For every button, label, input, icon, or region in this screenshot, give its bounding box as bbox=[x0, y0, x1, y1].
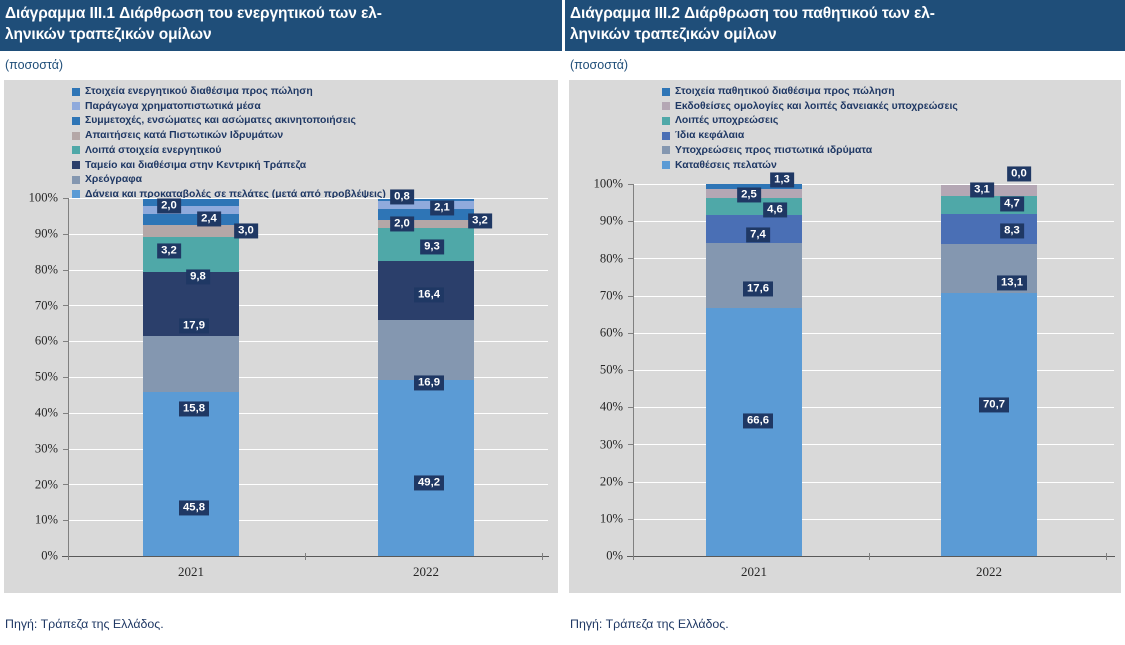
y-axis-tick-label: 100% bbox=[569, 177, 623, 192]
legend-assets: Στοιχεία ενεργητικού διαθέσιμα προς πώλη… bbox=[4, 84, 558, 202]
legend-item[interactable]: Χρεόγραφα bbox=[4, 172, 558, 187]
x-axis-category-label: 2022 bbox=[413, 564, 439, 580]
gridline bbox=[69, 520, 548, 521]
x-axis-tick-mark bbox=[869, 553, 870, 560]
legend-item[interactable]: Παράγωγα χρηματοπιστωτικά μέσα bbox=[4, 99, 558, 114]
chart-title-line-2: ληνικών τραπεζικών ομίλων bbox=[5, 25, 555, 46]
x-axis-line bbox=[627, 556, 1115, 557]
bar-segment[interactable] bbox=[378, 380, 474, 556]
bar-data-label: 4,6 bbox=[763, 203, 787, 218]
legend-swatch-icon bbox=[72, 132, 80, 140]
bar-data-label: 3,0 bbox=[234, 224, 258, 239]
bar-segment[interactable] bbox=[706, 243, 802, 308]
chart-title-assets: Διάγραμμα III.1 Διάρθρωση του ενεργητικο… bbox=[0, 0, 562, 51]
bar-data-label: 3,2 bbox=[468, 214, 492, 229]
bar-data-label: 49,2 bbox=[414, 476, 444, 491]
y-axis-tick-mark bbox=[628, 370, 634, 371]
bar-data-label: 0,8 bbox=[390, 190, 414, 205]
chart-title-line-1: Διάγραμμα III.1 Διάρθρωση του ενεργητικο… bbox=[5, 4, 555, 25]
bar-segment[interactable] bbox=[143, 392, 239, 556]
legend-swatch-icon bbox=[662, 161, 670, 169]
legend-item-label: Καταθέσεις πελατών bbox=[675, 160, 777, 171]
y-axis-tick-label: 20% bbox=[569, 474, 623, 489]
gridline bbox=[69, 270, 548, 271]
legend-swatch-icon bbox=[662, 117, 670, 125]
y-axis-tick-mark bbox=[63, 449, 69, 450]
bar-data-label: 70,7 bbox=[979, 398, 1009, 413]
y-axis-tick-label: 60% bbox=[4, 334, 58, 349]
y-axis-tick-mark bbox=[63, 377, 69, 378]
gridline bbox=[69, 198, 548, 199]
legend-swatch-icon bbox=[72, 88, 80, 96]
chart-subtitle-liabilities: (ποσοστά) bbox=[565, 51, 1125, 78]
bar-segment[interactable] bbox=[378, 320, 474, 381]
bar-data-label: 2,1 bbox=[430, 201, 454, 216]
plot-area-liabilities: Στοιχεία παθητικού διαθέσιμα προς πώληση… bbox=[569, 80, 1121, 593]
legend-item-label: Απαιτήσεις κατά Πιστωτικών Ιδρυμάτων bbox=[85, 130, 283, 141]
y-axis-tick-label: 60% bbox=[569, 326, 623, 341]
bar-data-label: 3,1 bbox=[970, 183, 994, 198]
legend-item[interactable]: Λοιπά στοιχεία ενεργητικού bbox=[4, 143, 558, 158]
y-axis-tick-label: 70% bbox=[4, 298, 58, 313]
legend-item[interactable]: Ίδια κεφάλαια bbox=[569, 128, 1121, 143]
gridline bbox=[69, 484, 548, 485]
axis-origin-tick bbox=[68, 553, 69, 560]
y-axis-tick-label: 90% bbox=[569, 214, 623, 229]
y-axis-tick-mark bbox=[63, 270, 69, 271]
y-axis-tick-mark bbox=[628, 184, 634, 185]
bar-data-label: 9,8 bbox=[186, 270, 210, 285]
y-axis-tick-mark bbox=[63, 234, 69, 235]
legend-item[interactable]: Καταθέσεις πελατών bbox=[569, 158, 1121, 173]
legend-item-label: Υποχρεώσεις προς πιστωτικά ιδρύματα bbox=[675, 145, 872, 156]
legend-item-label: Παράγωγα χρηματοπιστωτικά μέσα bbox=[85, 101, 261, 112]
legend-item[interactable]: Υποχρεώσεις προς πιστωτικά ιδρύματα bbox=[569, 143, 1121, 158]
legend-item[interactable]: Συμμετοχές, ενσώματες και ασώματες ακινη… bbox=[4, 114, 558, 129]
y-axis-tick-mark bbox=[628, 296, 634, 297]
bar-data-label: 2,0 bbox=[390, 217, 414, 232]
x-axis-tick-mark bbox=[542, 553, 543, 560]
bar-segment[interactable] bbox=[143, 214, 239, 225]
y-axis-tick-mark bbox=[628, 519, 634, 520]
legend-swatch-icon bbox=[72, 146, 80, 154]
chart-title-liabilities: Διάγραμμα III.2 Διάρθρωση του παθητικού … bbox=[565, 0, 1125, 51]
y-axis-tick-label: 10% bbox=[4, 513, 58, 528]
gridline bbox=[69, 234, 548, 235]
y-axis-tick-mark bbox=[628, 333, 634, 334]
y-axis-tick-mark bbox=[63, 305, 69, 306]
chart-panel-liabilities: Διάγραμμα III.2 Διάρθρωση του παθητικού … bbox=[562, 0, 1125, 645]
chart-subtitle-assets: (ποσοστά) bbox=[0, 51, 562, 78]
y-axis-tick-mark bbox=[628, 444, 634, 445]
legend-swatch-icon bbox=[72, 161, 80, 169]
y-axis-tick-label: 50% bbox=[4, 370, 58, 385]
legend-item-label: Λοιπά στοιχεία ενεργητικού bbox=[85, 145, 221, 156]
gridline bbox=[69, 305, 548, 306]
bar-data-label: 45,8 bbox=[179, 501, 209, 516]
source-note-assets: Πηγή: Τράπεζα της Ελλάδος. bbox=[5, 617, 164, 631]
legend-item-label: Ίδια κεφάλαια bbox=[675, 130, 744, 141]
bar-segment[interactable] bbox=[143, 336, 239, 393]
legend-swatch-icon bbox=[72, 102, 80, 110]
bar-data-label: 9,3 bbox=[420, 240, 444, 255]
legend-item-label: Ταμείο και διαθέσιμα στην Κεντρική Τράπε… bbox=[85, 160, 306, 171]
x-axis-tick-mark bbox=[305, 553, 306, 560]
legend-item-label: Εκδοθείσες ομολογίες και λοιπές δανειακέ… bbox=[675, 101, 958, 112]
bar-data-label: 8,3 bbox=[1000, 224, 1024, 239]
y-axis-tick-label: 0% bbox=[569, 549, 623, 564]
y-axis-tick-label: 30% bbox=[4, 441, 58, 456]
bar-segment[interactable] bbox=[941, 293, 1037, 556]
y-axis-tick-label: 30% bbox=[569, 437, 623, 452]
gridline bbox=[69, 449, 548, 450]
y-axis-tick-label: 20% bbox=[4, 477, 58, 492]
bar-segment[interactable] bbox=[706, 308, 802, 556]
legend-item[interactable]: Στοιχεία ενεργητικού διαθέσιμα προς πώλη… bbox=[4, 84, 558, 99]
bar-data-label: 7,4 bbox=[746, 228, 770, 243]
y-axis-tick-label: 80% bbox=[569, 251, 623, 266]
bar-data-label: 0,0 bbox=[1007, 167, 1031, 182]
legend-liabilities: Στοιχεία παθητικού διαθέσιμα προς πώληση… bbox=[569, 84, 1121, 172]
y-axis-tick-label: 100% bbox=[4, 191, 58, 206]
legend-item-label: Στοιχεία ενεργητικού διαθέσιμα προς πώλη… bbox=[85, 86, 313, 97]
legend-item[interactable]: Δάνεια και προκαταβολές σε πελάτες (μετά… bbox=[4, 187, 558, 202]
y-axis-tick-mark bbox=[628, 407, 634, 408]
y-axis-tick-mark bbox=[628, 482, 634, 483]
x-axis-tick-mark bbox=[1106, 553, 1107, 560]
figure-page: Διάγραμμα III.1 Διάρθρωση του ενεργητικο… bbox=[0, 0, 1125, 645]
x-axis-category-label: 2021 bbox=[741, 564, 767, 580]
gridline bbox=[69, 341, 548, 342]
x-axis-category-label: 2021 bbox=[178, 564, 204, 580]
bar-data-label: 66,6 bbox=[743, 414, 773, 429]
y-axis-tick-label: 90% bbox=[4, 227, 58, 242]
gridline bbox=[69, 377, 548, 378]
legend-item[interactable]: Λοιπές υποχρεώσεις bbox=[569, 114, 1121, 129]
y-axis-tick-mark bbox=[63, 198, 69, 199]
legend-swatch-icon bbox=[662, 146, 670, 154]
legend-item[interactable]: Ταμείο και διαθέσιμα στην Κεντρική Τράπε… bbox=[4, 158, 558, 173]
x-axis-category-label: 2022 bbox=[976, 564, 1002, 580]
y-axis-tick-label: 0% bbox=[4, 549, 58, 564]
y-axis-tick-label: 80% bbox=[4, 262, 58, 277]
legend-item[interactable]: Απαιτήσεις κατά Πιστωτικών Ιδρυμάτων bbox=[4, 128, 558, 143]
y-axis-tick-label: 40% bbox=[4, 406, 58, 421]
bar-data-label: 17,9 bbox=[179, 319, 209, 334]
plot-area-assets: Στοιχεία ενεργητικού διαθέσιμα προς πώλη… bbox=[4, 80, 558, 593]
legend-item-label: Λοιπές υποχρεώσεις bbox=[675, 115, 778, 126]
bar-data-label: 2,5 bbox=[737, 188, 761, 203]
legend-item-label: Στοιχεία παθητικού διαθέσιμα προς πώληση bbox=[675, 86, 895, 97]
y-axis-tick-label: 50% bbox=[569, 363, 623, 378]
bar-segment[interactable] bbox=[143, 225, 239, 236]
bar-data-label: 2,0 bbox=[157, 199, 181, 214]
legend-swatch-icon bbox=[662, 88, 670, 96]
bar-data-label: 2,4 bbox=[197, 212, 221, 227]
y-axis-tick-mark bbox=[628, 258, 634, 259]
bar-data-label: 3,2 bbox=[157, 244, 181, 259]
legend-swatch-icon bbox=[72, 190, 80, 198]
legend-item[interactable]: Στοιχεία παθητικού διαθέσιμα προς πώληση bbox=[569, 84, 1121, 99]
bar-data-label: 16,4 bbox=[414, 288, 444, 303]
legend-swatch-icon bbox=[72, 117, 80, 125]
y-axis-tick-mark bbox=[63, 341, 69, 342]
y-axis-tick-mark bbox=[63, 413, 69, 414]
bar-data-label: 13,1 bbox=[997, 276, 1027, 291]
legend-swatch-icon bbox=[662, 132, 670, 140]
bar-data-label: 17,6 bbox=[743, 282, 773, 297]
chart-title-line-2: ληνικών τραπεζικών ομίλων bbox=[570, 25, 1118, 46]
legend-item-label: Συμμετοχές, ενσώματες και ασώματες ακινη… bbox=[85, 115, 356, 126]
y-axis-tick-mark bbox=[63, 484, 69, 485]
chart-title-line-1: Διάγραμμα III.2 Διάρθρωση του παθητικού … bbox=[570, 4, 1118, 25]
bar-data-label: 1,3 bbox=[770, 173, 794, 188]
bar-data-label: 16,9 bbox=[414, 376, 444, 391]
bar-data-label: 15,8 bbox=[179, 402, 209, 417]
legend-item[interactable]: Εκδοθείσες ομολογίες και λοιπές δανειακέ… bbox=[569, 99, 1121, 114]
legend-swatch-icon bbox=[72, 176, 80, 184]
y-axis-tick-label: 40% bbox=[569, 400, 623, 415]
y-axis-tick-label: 10% bbox=[569, 512, 623, 527]
y-axis-tick-label: 70% bbox=[569, 288, 623, 303]
bar-data-label: 4,7 bbox=[1000, 197, 1024, 212]
y-axis-tick-mark bbox=[628, 221, 634, 222]
legend-swatch-icon bbox=[662, 102, 670, 110]
chart-panel-assets: Διάγραμμα III.1 Διάρθρωση του ενεργητικο… bbox=[0, 0, 562, 645]
y-axis-tick-mark bbox=[63, 520, 69, 521]
legend-item-label: Χρεόγραφα bbox=[85, 174, 142, 185]
axis-origin-tick bbox=[633, 553, 634, 560]
source-note-liabilities: Πηγή: Τράπεζα της Ελλάδος. bbox=[570, 617, 729, 631]
gridline bbox=[69, 413, 548, 414]
